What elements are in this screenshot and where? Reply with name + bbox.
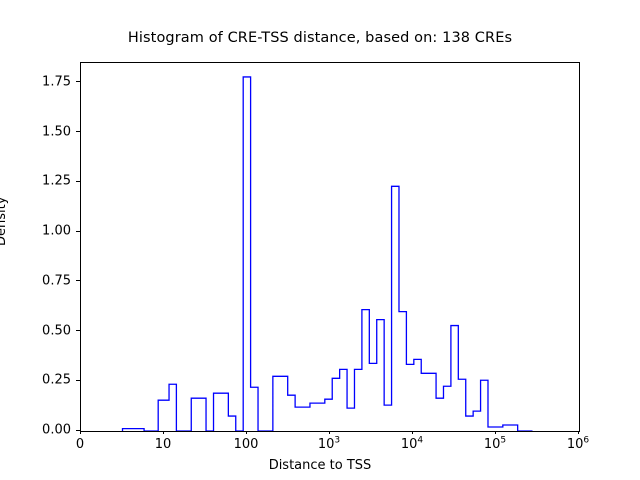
- x-tick-label: 10: [155, 437, 172, 452]
- x-tick-label: 100: [234, 437, 259, 452]
- histogram-figure: Histogram of CRE-TSS distance, based on:…: [0, 0, 640, 480]
- x-axis-label: Distance to TSS: [0, 458, 640, 473]
- x-tick-label: 105: [484, 437, 506, 452]
- histogram-step-line: [81, 63, 579, 431]
- plot-area: [80, 62, 580, 432]
- x-tick-label: 106: [567, 437, 589, 452]
- x-tick-label: 104: [401, 437, 423, 452]
- histogram-outline: [123, 77, 533, 431]
- x-tick-label: 103: [318, 437, 340, 452]
- x-tick-label: 0: [76, 437, 84, 452]
